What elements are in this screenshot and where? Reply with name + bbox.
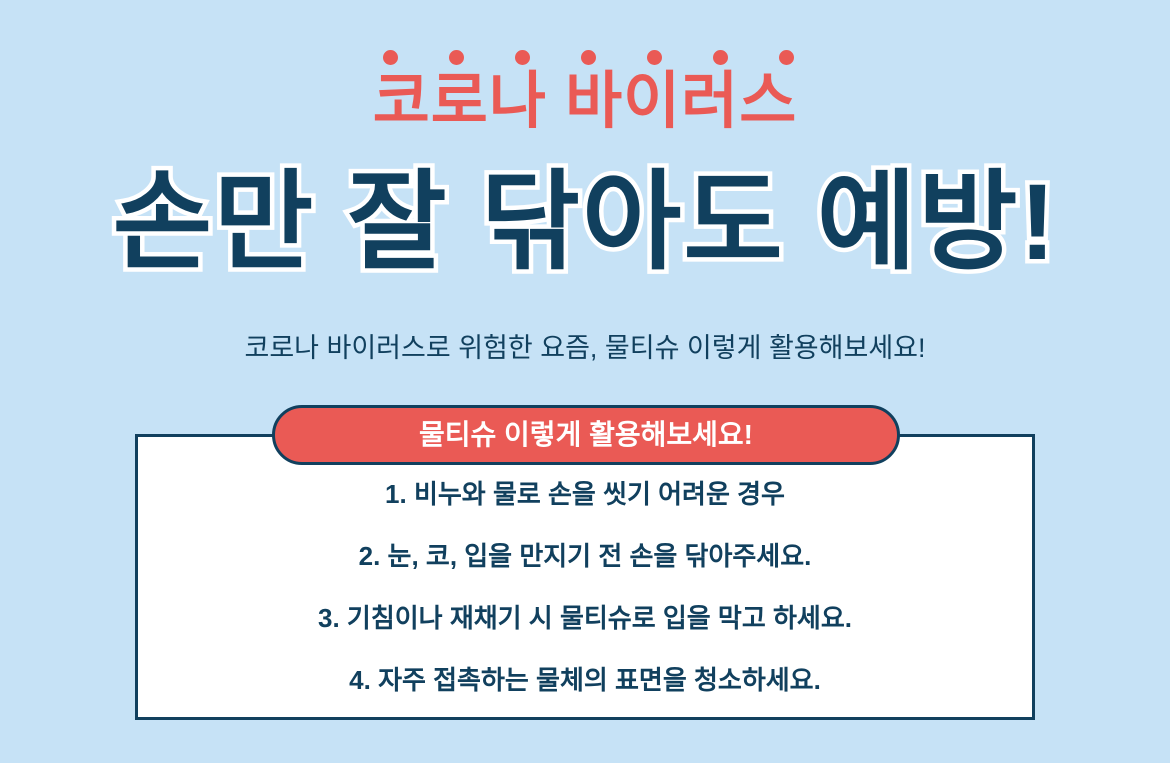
decorative-dot-icon: [713, 50, 728, 65]
list-item: 1. 비누와 물로 손을 씻기 어려운 경우: [135, 481, 1035, 507]
page-title: 손만 잘 닦아도 예방!: [0, 158, 1170, 285]
decorative-dots-row: [352, 50, 818, 65]
decorative-dot-icon: [449, 50, 464, 65]
list-item: 3. 기침이나 재채기 시 물티슈로 입을 막고 하세요.: [135, 605, 1035, 631]
decorative-dot-icon: [647, 50, 662, 65]
eyebrow-block: 코로나 바이러스: [0, 50, 1170, 133]
eyebrow-title: 코로나 바이러스: [0, 71, 1170, 133]
tips-list: 1. 비누와 물로 손을 씻기 어려운 경우 2. 눈, 코, 입을 만지기 전…: [135, 481, 1035, 693]
list-item: 4. 자주 접촉하는 물체의 표면을 청소하세요.: [135, 667, 1035, 693]
subtitle-text: 코로나 바이러스로 위험한 요즘, 물티슈 이렇게 활용해보세요!: [0, 330, 1170, 368]
tips-panel-header-label: 물티슈 이렇게 활용해보세요!: [419, 421, 753, 449]
poster-canvas: 코로나 바이러스 손만 잘 닦아도 예방! 코로나 바이러스로 위험한 요즘, …: [0, 0, 1170, 763]
decorative-dot-icon: [515, 50, 530, 65]
list-item: 2. 눈, 코, 입을 만지기 전 손을 닦아주세요.: [135, 543, 1035, 569]
tips-panel-header-badge: 물티슈 이렇게 활용해보세요!: [272, 405, 900, 465]
decorative-dot-icon: [581, 50, 596, 65]
decorative-dot-icon: [383, 50, 398, 65]
decorative-dot-icon: [779, 50, 794, 65]
